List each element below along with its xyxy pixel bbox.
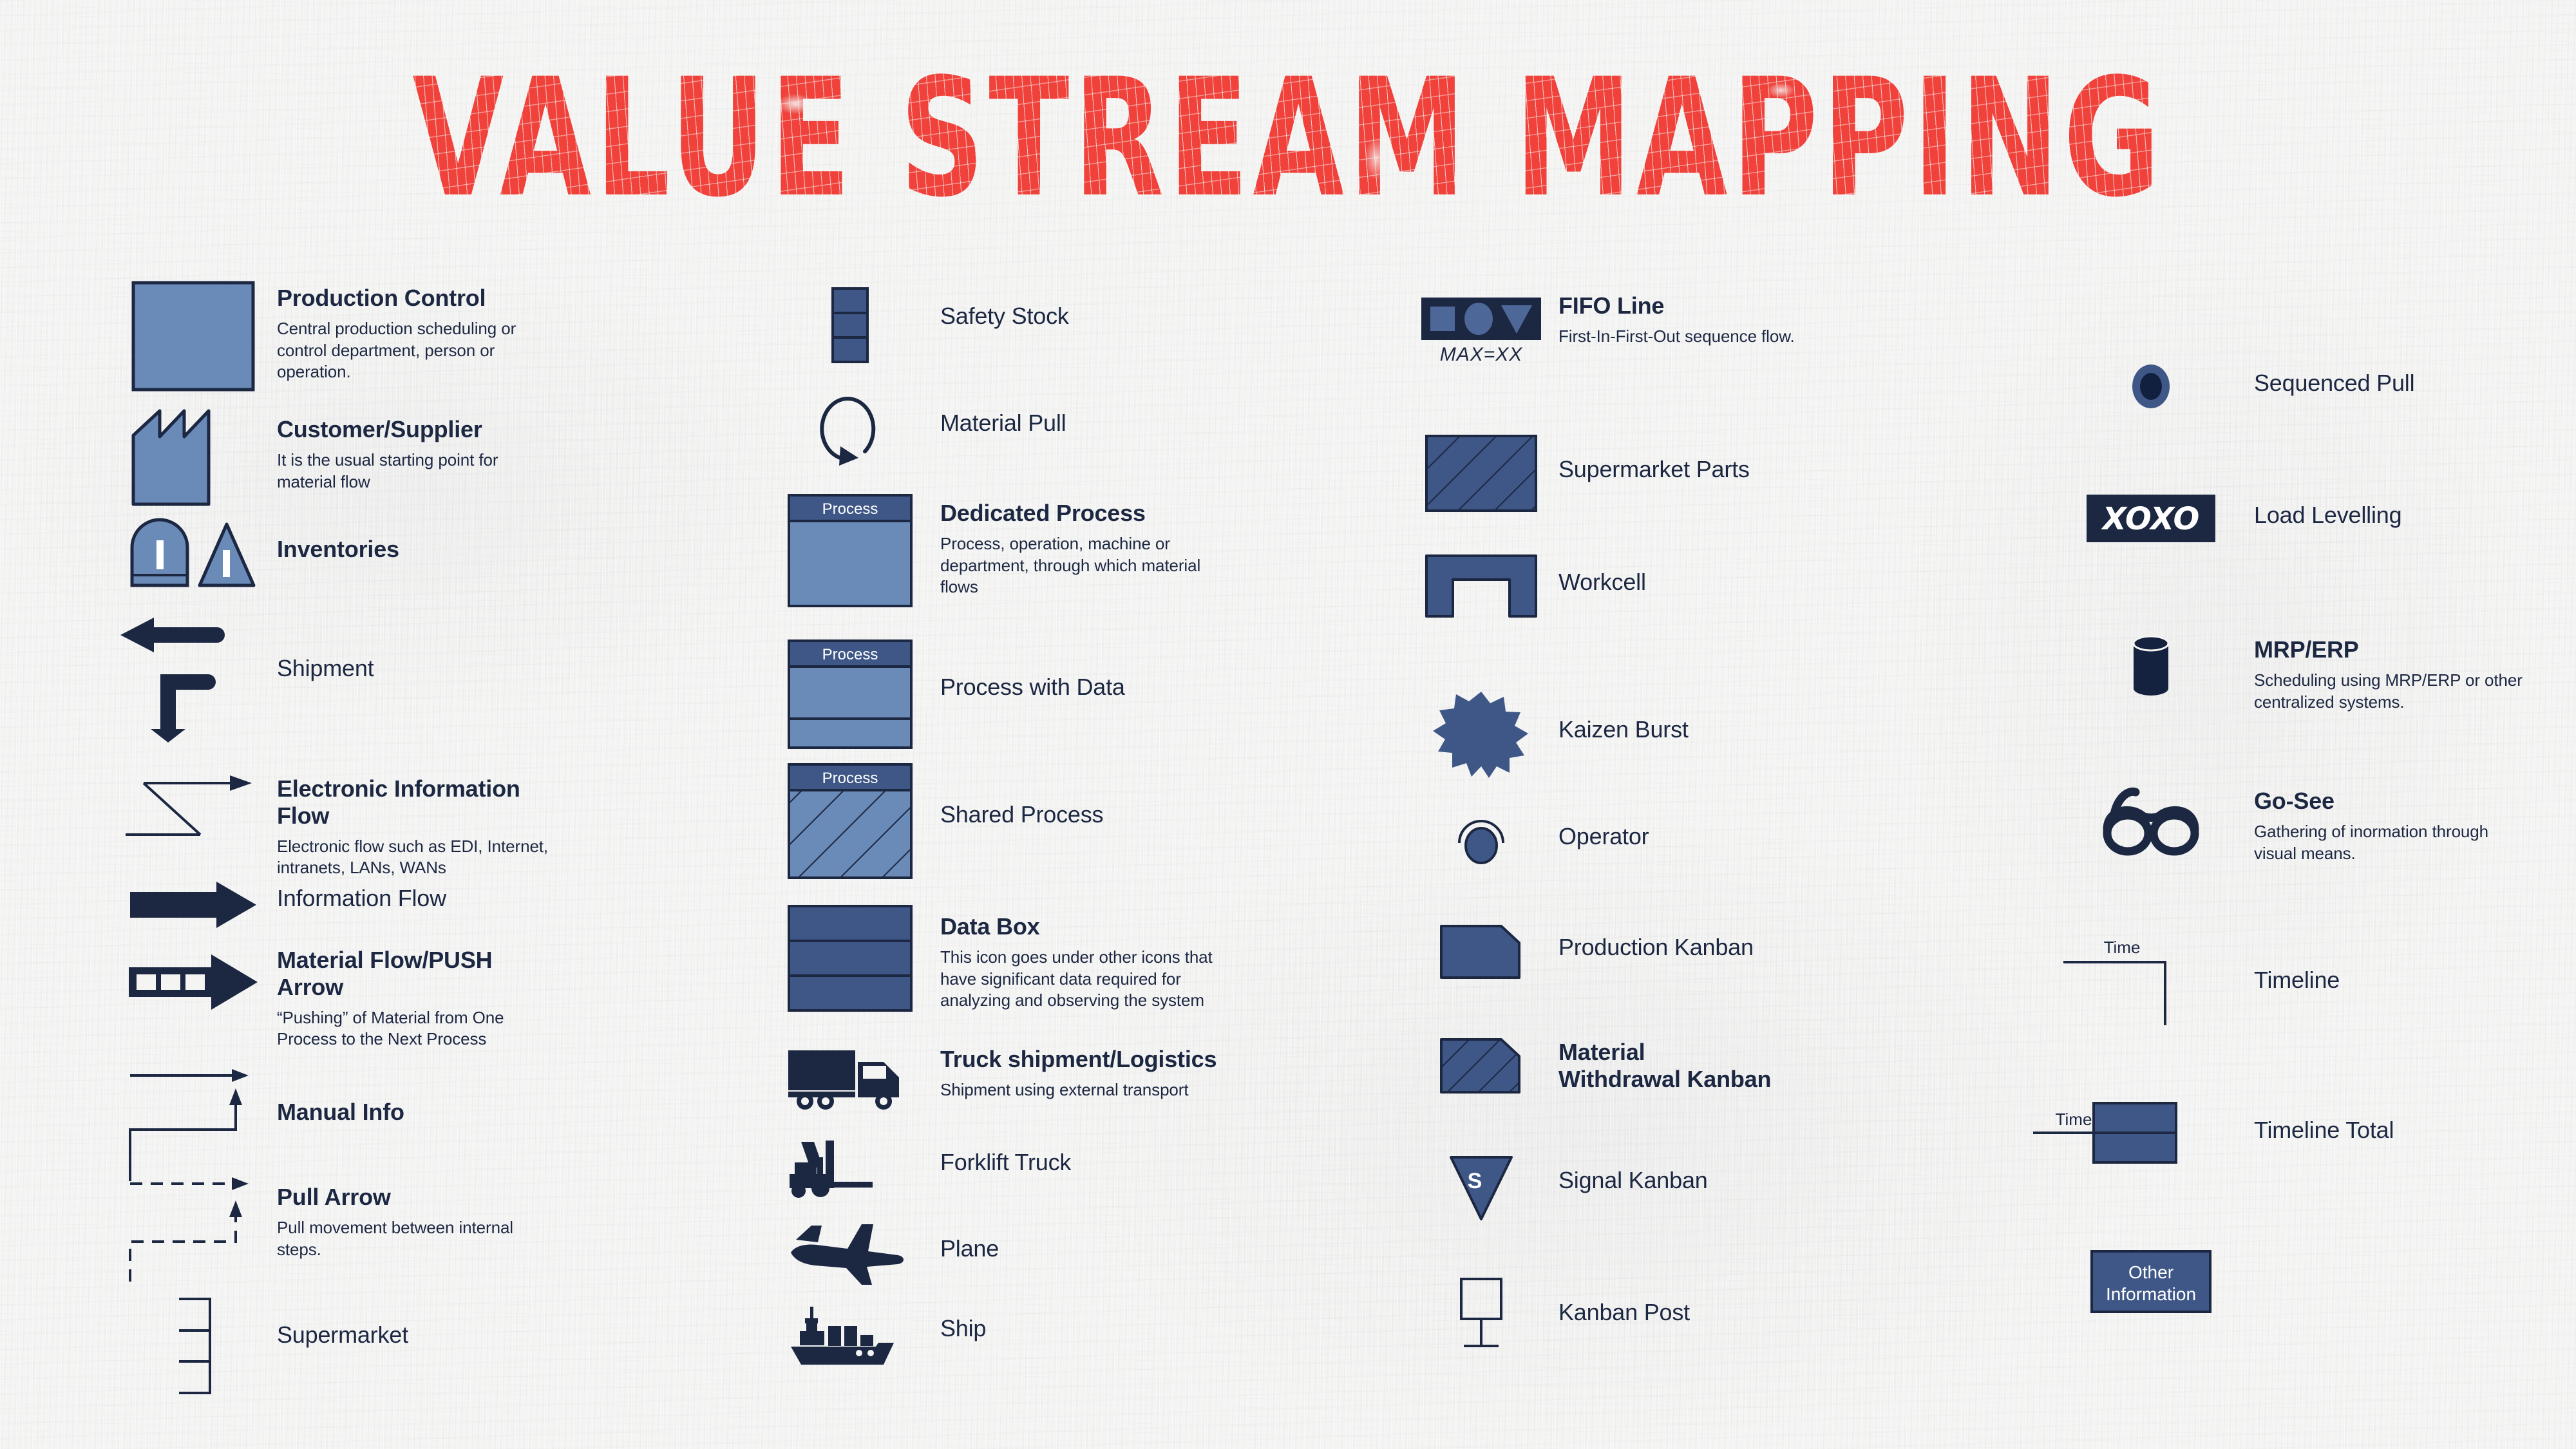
legend-label: Workcell (1558, 569, 1835, 596)
legend-item-operator[interactable]: Operator (1404, 811, 1835, 869)
legend-label: Sequenced Pull (2254, 370, 2531, 397)
legend-label: Process with Data (940, 674, 1211, 701)
legend-label: Ship (940, 1315, 1211, 1342)
legend-label: Kanban Post (1558, 1299, 1835, 1326)
shipment-arrows-icon (109, 615, 277, 744)
legend-label: Material Flow/PUSH Arrow (277, 947, 560, 1001)
legend-label: MRP/ERP (2254, 636, 2531, 663)
process-box-label: Process (822, 646, 878, 663)
legend-item-inventories[interactable]: Inventories (109, 515, 554, 589)
legend-label: Production Control (277, 285, 554, 312)
legend-label: Dedicated Process (940, 500, 1217, 527)
legend-item-production-control[interactable]: Production Control Central production sc… (109, 278, 554, 394)
legend-label: Forklift Truck (940, 1149, 1211, 1176)
legend-label: Safety Stock (940, 303, 1211, 330)
forklift-icon (760, 1133, 940, 1204)
legend-label: Truck shipment/Logistics (940, 1046, 1224, 1073)
legend-item-manual-info[interactable]: Manual Info (109, 1063, 554, 1185)
production-kanban-icon (1404, 921, 1558, 982)
legend-item-material-pull[interactable]: Material Pull (760, 386, 1211, 470)
production-control-box-icon (109, 278, 277, 394)
go-see-glasses-icon (2048, 782, 2254, 860)
legend-desc: Scheduling using MRP/ERP or other centra… (2254, 670, 2531, 714)
legend-label: Production Kanban (1558, 934, 1835, 961)
legend-item-shared-process[interactable]: Process Shared Process (760, 760, 1211, 882)
legend-item-information-flow[interactable]: Information Flow (109, 876, 554, 934)
legend-label: Pull Arrow (277, 1184, 554, 1211)
legend-item-pull-arrow[interactable]: Pull Arrow Pull movement between interna… (109, 1172, 554, 1285)
legend-label: FIFO Line (1558, 292, 1835, 319)
legend-label: Shared Process (940, 801, 1211, 828)
legend-item-load-levelling[interactable]: XOXO Load Levelling (2048, 493, 2531, 544)
timeline-time-label: Time (2104, 938, 2141, 957)
legend-label: Electronic Information Flow (277, 775, 560, 829)
legend-label: Kaizen Burst (1558, 716, 1835, 743)
legend-desc: It is the usual starting point for mater… (277, 450, 554, 493)
legend-label: Go-See (2254, 788, 2531, 815)
legend-item-push-arrow[interactable]: Material Flow/PUSH Arrow “Pushing” of Ma… (109, 947, 560, 1050)
kaizen-burst-icon (1404, 689, 1558, 779)
factory-icon (109, 406, 277, 509)
legend-desc: Shipment using external transport (940, 1079, 1224, 1101)
legend-item-truck-shipment[interactable]: Truck shipment/Logistics Shipment using … (760, 1043, 1224, 1114)
legend-item-production-kanban[interactable]: Production Kanban (1404, 921, 1835, 982)
shared-process-icon: Process (760, 760, 940, 882)
legend-item-dedicated-process[interactable]: Process Dedicated Process Process, opera… (760, 491, 1217, 610)
legend-item-go-see[interactable]: Go-See Gathering of inormation through v… (2048, 782, 2531, 864)
page-title-text: VALUE STREAM MAPPING (412, 62, 2164, 215)
legend-desc: Gathering of inormation through visual m… (2254, 821, 2531, 865)
legend-label: Plane (940, 1235, 1211, 1262)
legend-label: Supermarket (277, 1321, 554, 1349)
ship-icon (760, 1301, 940, 1372)
legend-label: Supermarket Parts (1558, 456, 1835, 483)
legend-label: Customer/Supplier (277, 416, 554, 443)
truck-icon (760, 1043, 940, 1114)
legend-item-kaizen-burst[interactable]: Kaizen Burst (1404, 689, 1835, 779)
process-box-label: Process (822, 500, 878, 518)
legend-desc: Pull movement between internal steps. (277, 1217, 554, 1261)
legend-desc: First-In-First-Out sequence flow. (1558, 326, 1835, 348)
supermarket-parts-icon (1404, 431, 1558, 515)
operator-icon (1404, 811, 1558, 869)
legend-item-timeline-total[interactable]: Time Timeline Total (1990, 1095, 2531, 1179)
legend-item-shipment[interactable]: Shipment (109, 615, 554, 744)
legend-label: Information Flow (277, 885, 554, 912)
legend-item-data-box[interactable]: Data Box This icon goes under other icon… (760, 902, 1224, 1014)
legend-item-ship[interactable]: Ship (760, 1301, 1211, 1372)
mrp-erp-icon (2048, 631, 2254, 702)
legend-desc: Central production scheduling or control… (277, 318, 554, 383)
legend-item-mrp-erp[interactable]: MRP/ERP Scheduling using MRP/ERP or othe… (2048, 631, 2531, 713)
manual-info-arrow-icon (109, 1063, 277, 1185)
legend-label: Timeline (2254, 967, 2531, 994)
legend-label: Signal Kanban (1558, 1167, 1835, 1194)
timeline-icon: Time (2003, 931, 2254, 1034)
legend-item-workcell[interactable]: Workcell (1404, 551, 1835, 621)
legend-label: Load Levelling (2254, 502, 2531, 529)
process-box-label: Process (822, 770, 878, 787)
signal-kanban-glyph: S (1468, 1169, 1482, 1193)
legend-label: Material Withdrawal Kanban (1558, 1039, 1835, 1093)
legend-label: Manual Info (277, 1099, 554, 1126)
supermarket-icon (109, 1294, 277, 1397)
material-pull-icon (760, 386, 940, 470)
legend-item-signal-kanban[interactable]: S Signal Kanban (1404, 1153, 1835, 1224)
legend-item-fifo-line[interactable]: MAX=XX FIFO Line First-In-First-Out sequ… (1404, 290, 1835, 374)
legend-desc: Process, operation, machine or departmen… (940, 533, 1217, 598)
legend-item-safety-stock[interactable]: Safety Stock (760, 283, 1211, 367)
legend-label: Data Box (940, 913, 1224, 940)
legend-item-timeline[interactable]: Time Timeline (2003, 931, 2531, 1034)
legend-label: Shipment (277, 655, 554, 682)
legend-item-sequenced-pull[interactable]: Sequenced Pull (2048, 361, 2531, 412)
kanban-post-icon (1404, 1272, 1558, 1356)
legend-item-other-information[interactable]: Other Information (2048, 1246, 2254, 1317)
legend-label: Inventories (277, 536, 554, 563)
legend-label: Timeline Total (2254, 1117, 2531, 1144)
process-with-data-icon: Process (760, 636, 940, 752)
data-box-icon (760, 902, 940, 1014)
push-arrow-icon (109, 947, 277, 1018)
other-information-icon: Other Information (2048, 1246, 2254, 1317)
fifo-line-icon: MAX=XX (1404, 290, 1558, 374)
electronic-information-flow-icon (109, 773, 277, 850)
legend-label: Operator (1558, 823, 1835, 850)
signal-kanban-icon: S (1404, 1153, 1558, 1224)
legend-item-supermarket[interactable]: Supermarket (109, 1294, 554, 1397)
legend-item-process-with-data[interactable]: Process Process with Data (760, 636, 1211, 752)
other-information-line2: Information (2106, 1284, 2196, 1304)
legend-item-electronic-information-flow[interactable]: Electronic Information Flow Electronic f… (109, 773, 560, 879)
material-withdrawal-kanban-icon (1404, 1034, 1558, 1098)
sequenced-pull-icon (2048, 361, 2254, 412)
legend-item-forklift-truck[interactable]: Forklift Truck (760, 1133, 1211, 1204)
information-flow-arrow-icon (109, 876, 277, 934)
load-levelling-glyph: XOXO (2101, 501, 2200, 537)
workcell-icon (1404, 551, 1558, 621)
load-levelling-icon: XOXO (2048, 493, 2254, 544)
dedicated-process-icon: Process (760, 491, 940, 610)
legend-item-material-withdrawal-kanban[interactable]: Material Withdrawal Kanban (1404, 1034, 1835, 1098)
pull-arrow-icon (109, 1172, 277, 1285)
legend-desc: “Pushing” of Material from One Process t… (277, 1007, 560, 1051)
page-title: VALUE STREAM MAPPING (0, 62, 2576, 169)
plane-icon (760, 1217, 940, 1291)
legend-item-customer-supplier[interactable]: Customer/Supplier It is the usual starti… (109, 406, 554, 509)
legend-item-kanban-post[interactable]: Kanban Post (1404, 1272, 1835, 1356)
timeline-total-icon: Time (1990, 1095, 2254, 1179)
legend-desc: Electronic flow such as EDI, Internet, i… (277, 836, 560, 880)
legend-desc: This icon goes under other icons that ha… (940, 947, 1224, 1012)
inventories-icon (109, 515, 277, 589)
legend-label: Material Pull (940, 410, 1211, 437)
fifo-max-label: MAX=XX (1440, 344, 1523, 366)
other-information-line1: Other (2128, 1262, 2173, 1282)
legend-item-supermarket-parts[interactable]: Supermarket Parts (1404, 431, 1835, 515)
timeline-total-time-label: Time (2056, 1110, 2092, 1129)
legend-item-plane[interactable]: Plane (760, 1217, 1211, 1291)
safety-stock-icon (760, 283, 940, 367)
